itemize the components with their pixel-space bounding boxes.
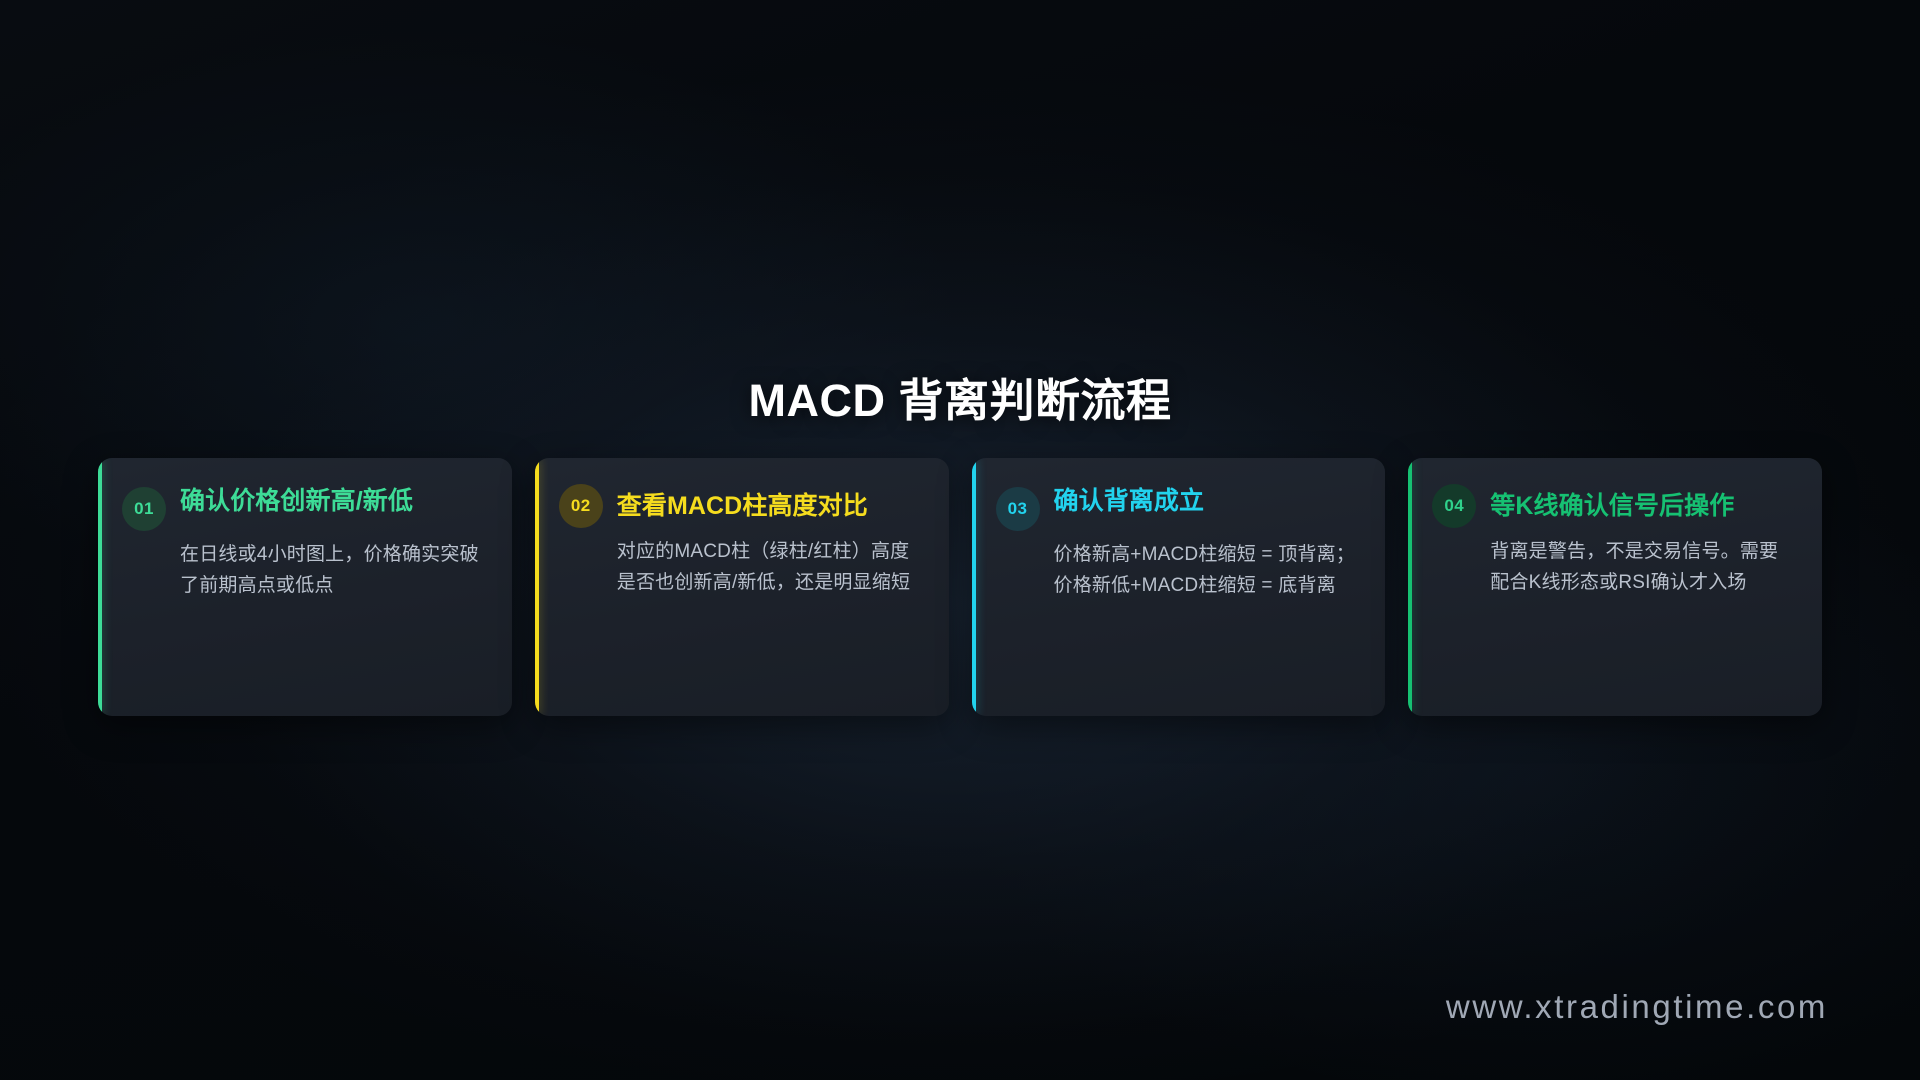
slide-canvas: MACD 背离判断流程 01 确认价格创新高/新低 在日线或4小时图上，价格确实… xyxy=(0,0,1920,1080)
site-watermark: www.xtradingtime.com xyxy=(1446,988,1828,1026)
card-accent-bar-01 xyxy=(98,458,102,716)
step-number-badge-02: 02 xyxy=(559,484,603,528)
step-card-04[interactable]: 04 等K线确认信号后操作 背离是警告，不是交易信号。需要配合K线形态或RSI确… xyxy=(1408,458,1822,716)
card-header-02: 02 查看MACD柱高度对比 xyxy=(559,484,923,528)
step-card-01[interactable]: 01 确认价格创新高/新低 在日线或4小时图上，价格确实突破了前期高点或低点 xyxy=(98,458,512,716)
card-accent-bar-04 xyxy=(1408,458,1412,716)
card-header-04: 04 等K线确认信号后操作 xyxy=(1432,484,1796,528)
card-header-03: 03 确认背离成立 xyxy=(996,484,1360,531)
card-accent-bar-02 xyxy=(535,458,539,716)
step-description-03: 价格新高+MACD柱缩短 = 顶背离；价格新低+MACD柱缩短 = 底背离 xyxy=(1054,540,1360,602)
step-title-03: 确认背离成立 xyxy=(1054,484,1205,518)
step-number-badge-01: 01 xyxy=(122,487,166,531)
page-title: MACD 背离判断流程 xyxy=(749,374,1172,427)
card-accent-bar-03 xyxy=(972,458,976,716)
step-description-01: 在日线或4小时图上，价格确实突破了前期高点或低点 xyxy=(180,540,486,602)
step-title-04: 等K线确认信号后操作 xyxy=(1490,489,1734,523)
step-number-badge-03: 03 xyxy=(996,487,1040,531)
step-card-03[interactable]: 03 确认背离成立 价格新高+MACD柱缩短 = 顶背离；价格新低+MACD柱缩… xyxy=(972,458,1386,716)
card-header-01: 01 确认价格创新高/新低 xyxy=(122,484,486,531)
step-card-02[interactable]: 02 查看MACD柱高度对比 对应的MACD柱（绿柱/红柱）高度是否也创新高/新… xyxy=(535,458,949,716)
page-title-container: MACD 背离判断流程 xyxy=(0,374,1920,427)
step-title-02: 查看MACD柱高度对比 xyxy=(617,489,868,523)
step-description-04: 背离是警告，不是交易信号。需要配合K线形态或RSI确认才入场 xyxy=(1490,537,1796,599)
step-title-01: 确认价格创新高/新低 xyxy=(180,484,413,518)
step-description-02: 对应的MACD柱（绿柱/红柱）高度是否也创新高/新低，还是明显缩短 xyxy=(617,537,923,599)
steps-row: 01 确认价格创新高/新低 在日线或4小时图上，价格确实突破了前期高点或低点 0… xyxy=(98,458,1822,716)
step-number-badge-04: 04 xyxy=(1432,484,1476,528)
